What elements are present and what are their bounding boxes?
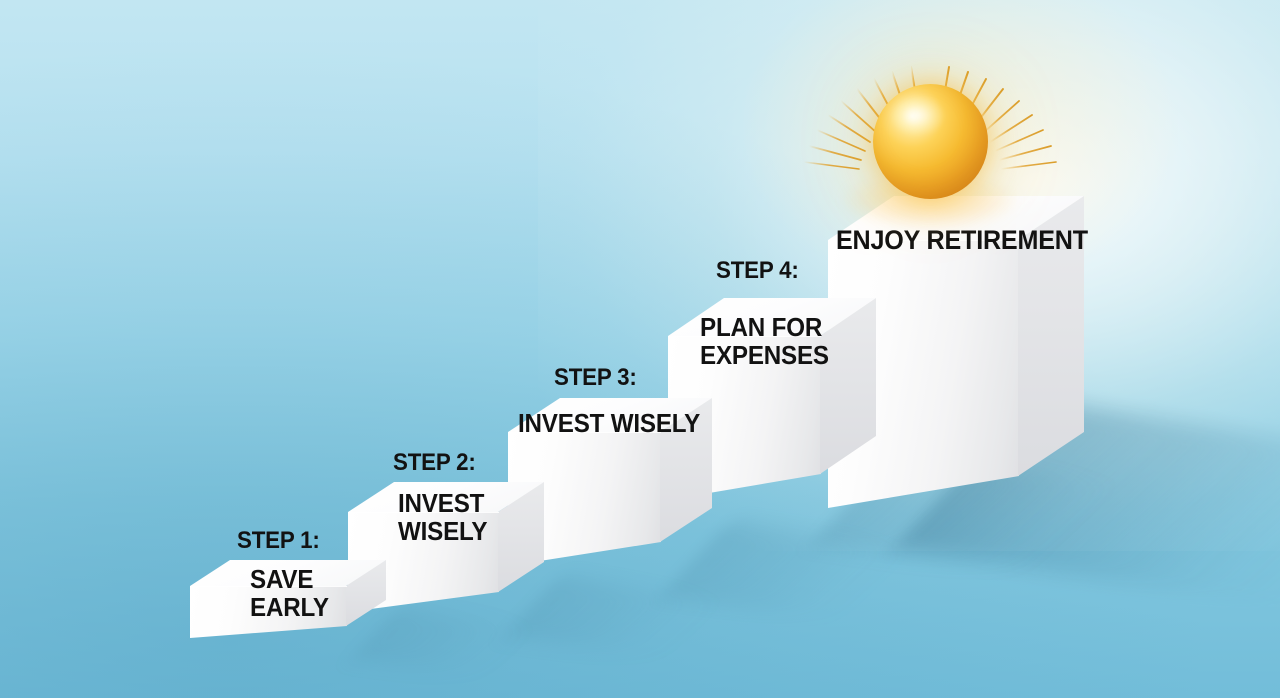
pillar-step-1-text: SAVE EARLY (250, 566, 399, 621)
pillar-step-3-text: INVEST WISELY (518, 410, 741, 438)
pillar-step-5-text: ENJOY RETIREMENT (836, 226, 1115, 255)
pillar-step-2-text: INVEST WISELY (398, 490, 575, 545)
step-1-label: STEP 1: (237, 528, 320, 553)
pillar-step-4-text: PLAN FOR EXPENSES (700, 314, 895, 369)
step-2-label: STEP 2: (393, 450, 476, 475)
step-4-label: STEP 4: (716, 258, 799, 283)
step-3-label: STEP 3: (554, 365, 637, 390)
infographic-canvas: ENJOY RETIREMENT STEP 4: PLAN FOR EXPENS… (0, 0, 1280, 698)
